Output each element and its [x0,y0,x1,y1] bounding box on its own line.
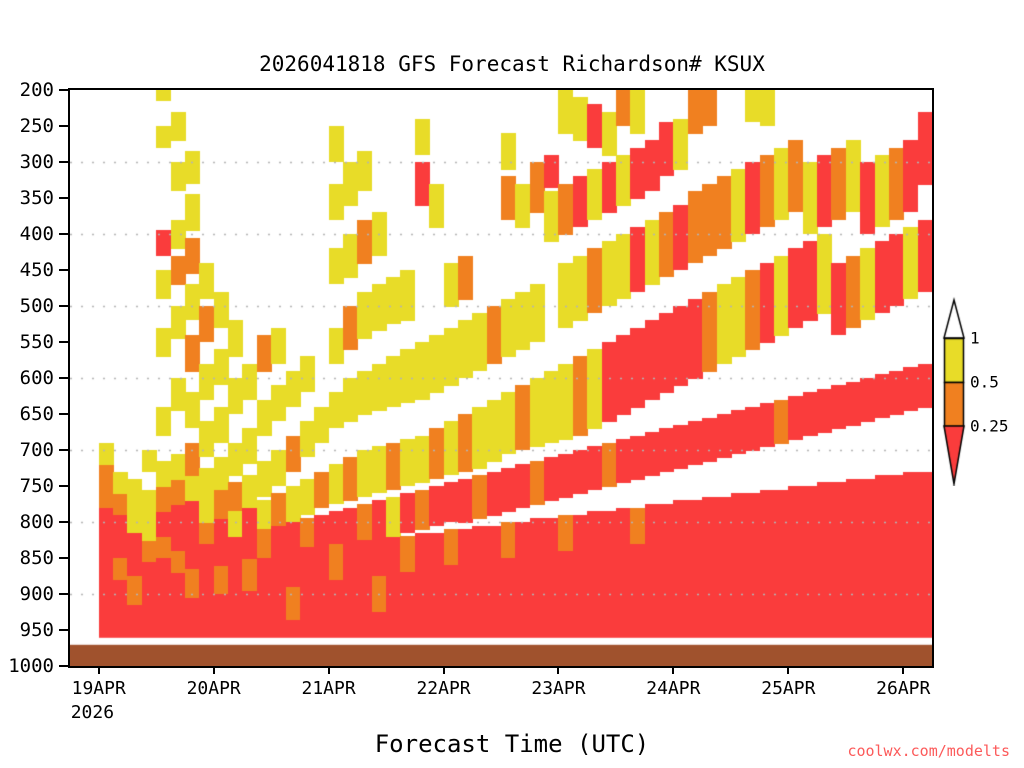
y-axis-tick-mark [59,89,68,91]
x-axis-tick-label: 24APR [646,678,700,699]
x-axis-tick-label: 25APR [761,678,815,699]
y-axis-tick-label: 700 [20,439,54,461]
y-axis-tick-label: 600 [20,367,54,389]
colorbar-tick-label: 1 [970,329,980,348]
colorbar-tick-label: 0.25 [970,417,1009,436]
y-axis-tick-label: 400 [20,223,54,245]
chart-stage: 2026041818 GFS Forecast Richardson# KSUX… [0,0,1024,768]
y-axis-tick-label: 1000 [8,655,54,677]
y-axis-tick-mark [59,485,68,487]
y-axis-tick-label: 450 [20,259,54,281]
y-axis-tick-mark [59,125,68,127]
x-axis-tick-mark [557,666,559,674]
y-axis-tick-mark [59,269,68,271]
colorbar-tick-label: 0.5 [970,373,999,392]
x-axis-tick-label: 23APR [531,678,585,699]
x-axis-tick-label: 20APR [187,678,241,699]
x-axis-tick-label: 19APR [72,678,126,699]
y-axis-tick-label: 500 [20,295,54,317]
x-axis-tick-mark [902,666,904,674]
y-axis-tick-mark [59,557,68,559]
y-axis-tick-label: 850 [20,547,54,569]
y-axis-tick-mark [59,413,68,415]
x-axis-tick-label: 26APR [876,678,930,699]
y-axis-tick-label: 650 [20,403,54,425]
watermark-link[interactable]: coolwx.com/modelts [847,742,1010,760]
y-axis-tick-label: 900 [20,583,54,605]
x-axis-tick-label: 21APR [302,678,356,699]
x-axis-tick-mark [328,666,330,674]
y-axis-tick-mark [59,665,68,667]
year-label: 2026 [71,702,114,723]
y-axis-tick-label: 300 [20,151,54,173]
y-axis-tick-mark [59,449,68,451]
x-axis-tick-mark [443,666,445,674]
y-axis-tick-label: 800 [20,511,54,533]
x-axis-tick-mark [787,666,789,674]
plot-area[interactable] [68,88,934,668]
y-axis-tick-mark [59,341,68,343]
y-axis-tick-mark [59,377,68,379]
y-axis-tick-mark [59,629,68,631]
y-axis-tick-label: 550 [20,331,54,353]
y-axis-tick-mark [59,233,68,235]
colorbar[interactable]: 10.50.25 [938,296,1024,486]
x-axis-tick-label: 22APR [416,678,470,699]
x-axis-tick-mark [672,666,674,674]
y-axis-tick-label: 750 [20,475,54,497]
chart-title: 2026041818 GFS Forecast Richardson# KSUX [0,52,1024,76]
y-axis-tick-label: 950 [20,619,54,641]
y-axis: 2002503003504004505005506006507007508008… [0,0,62,768]
x-axis-tick-mark [98,666,100,674]
y-axis-tick-mark [59,161,68,163]
y-axis-tick-label: 350 [20,187,54,209]
y-axis-tick-mark [59,197,68,199]
y-axis-tick-mark [59,593,68,595]
y-axis-tick-label: 200 [20,79,54,101]
heatmap-canvas [70,90,932,666]
y-axis-tick-mark [59,521,68,523]
x-axis-tick-mark [213,666,215,674]
y-axis-tick-mark [59,305,68,307]
y-axis-tick-label: 250 [20,115,54,137]
